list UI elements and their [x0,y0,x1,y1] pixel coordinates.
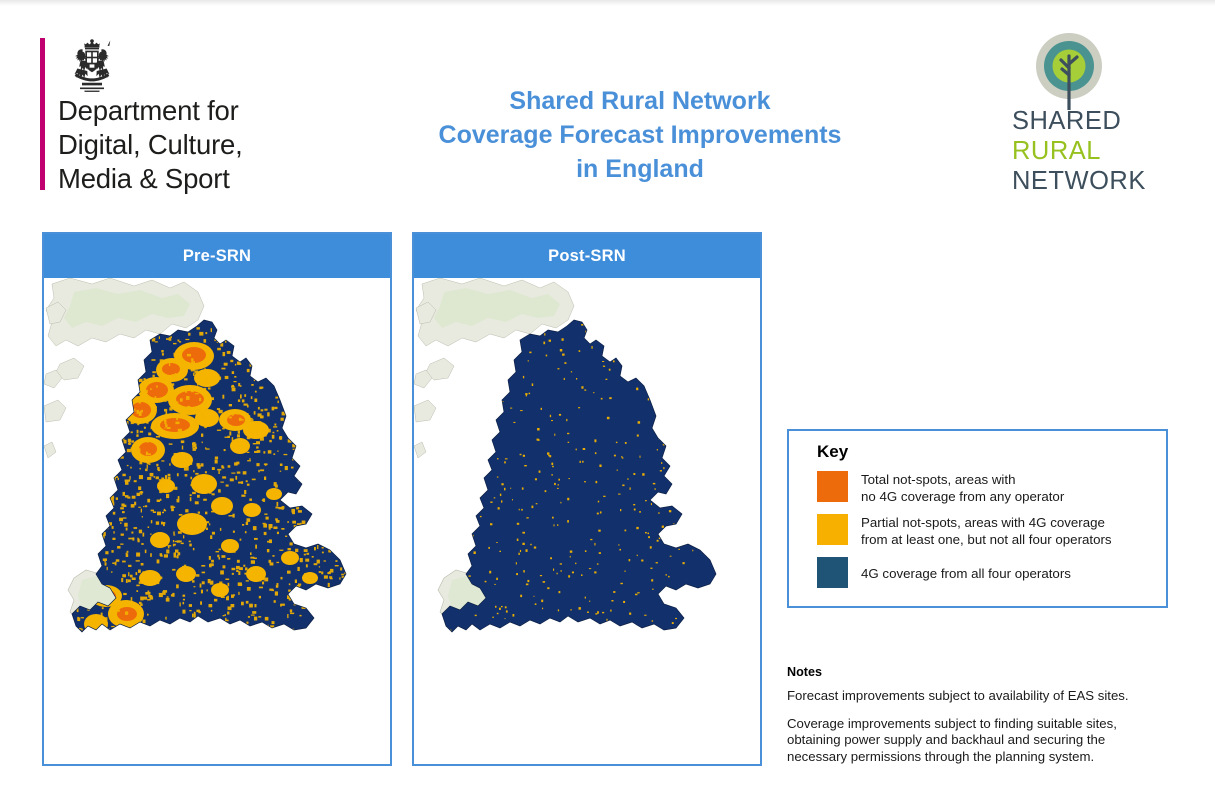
key-item-total-notspots: Total not-spots, areas with no 4G covera… [817,471,1157,505]
key-label-full-coverage: 4G coverage from all four operators [861,557,1071,582]
key-title: Key [817,442,848,462]
key-item-list: Total not-spots, areas with no 4G covera… [817,471,1157,597]
map-body-post-srn [414,278,760,764]
srn-word-network: NETWORK [1012,166,1182,196]
key-item-partial-notspots: Partial not-spots, areas with 4G coverag… [817,514,1157,548]
srn-wordmark: SHARED RURAL NETWORK [1012,106,1182,196]
key-swatch-orange [817,471,848,502]
notes-section: Notes Forecast improvements subject to a… [787,665,1179,765]
coverage-map-pre-srn [44,278,390,764]
srn-word-shared: SHARED [1012,106,1182,136]
notes-paragraph-1: Forecast improvements subject to availab… [787,688,1179,705]
key-swatch-dark-blue [817,557,848,588]
page-title: Shared Rural Network Coverage Forecast I… [360,84,920,186]
key-label-total-notspots: Total not-spots, areas with no 4G covera… [861,471,1064,505]
srn-word-rural: RURAL [1012,136,1182,166]
key-label-partial-notspots: Partial not-spots, areas with 4G coverag… [861,514,1112,548]
map-panel-post-srn: Post-SRN [412,232,762,766]
srn-logo: SHARED RURAL NETWORK [1012,32,1182,192]
notes-title: Notes [787,665,1179,679]
key-swatch-amber [817,514,848,545]
coverage-map-post-srn [414,278,760,764]
key-legend-box: Key Total not-spots, areas with no 4G co… [787,429,1168,608]
department-logo-rule [40,38,45,190]
key-item-full-coverage: 4G coverage from all four operators [817,557,1157,588]
tree-in-circles-icon [1030,32,1108,110]
royal-coat-of-arms-icon [58,36,126,94]
map-header-post-srn: Post-SRN [414,234,760,278]
map-body-pre-srn [44,278,390,764]
department-name: Department for Digital, Culture, Media &… [58,94,338,196]
notes-paragraph-2: Coverage improvements subject to finding… [787,716,1179,766]
department-logo: Department for Digital, Culture, Media &… [40,36,340,191]
map-header-pre-srn: Pre-SRN [44,234,390,278]
map-panel-pre-srn: Pre-SRN [42,232,392,766]
top-edge-strip [0,0,1215,6]
